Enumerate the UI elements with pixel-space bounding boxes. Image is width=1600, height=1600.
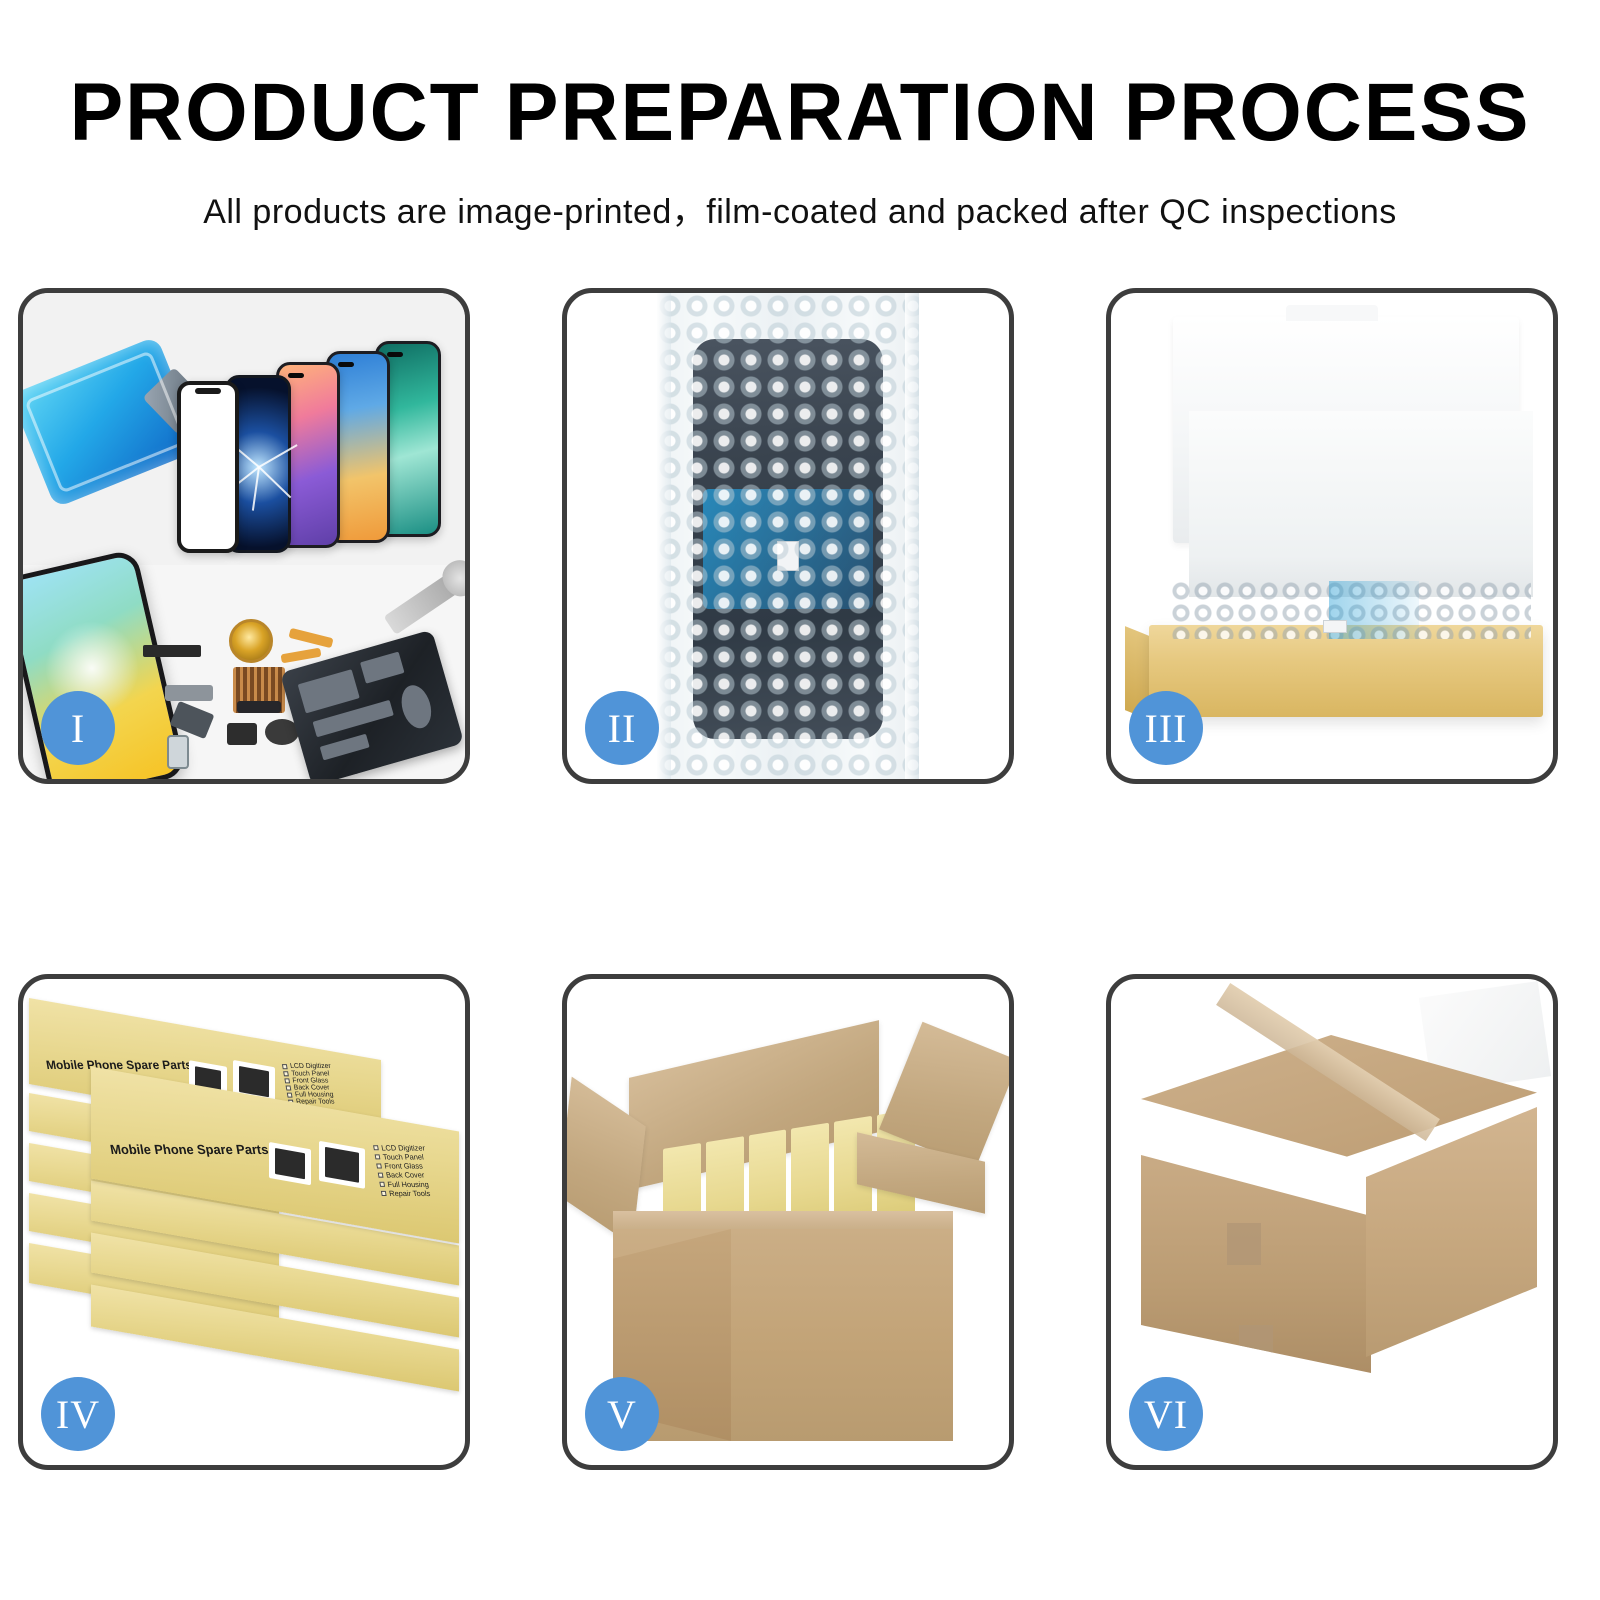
punch-hole-icon — [288, 373, 304, 378]
product-photo — [319, 1141, 365, 1189]
page-subtitle: All products are image-printed，film-coat… — [0, 184, 1600, 233]
crack-line — [258, 467, 291, 499]
step-badge-6: VI — [1129, 1377, 1203, 1451]
checklist-item: Front Glass — [292, 1077, 329, 1084]
flex-cable-graphic — [288, 628, 333, 648]
checklist-item: Full Housing — [387, 1180, 430, 1189]
process-step-panel-4: Mobile Phone Spare Parts LCD Digitizer T… — [18, 974, 470, 1470]
checklist-item: LCD Digitizer — [290, 1063, 332, 1070]
process-step-panel-2: II — [562, 288, 1014, 784]
box-inner-liner — [1189, 411, 1533, 597]
retail-box-brand-text: Mobile Phone Spare Parts — [109, 1142, 270, 1157]
tape-tab — [1227, 1223, 1261, 1265]
process-step-panel-3: III — [1106, 288, 1558, 784]
checklist-item: Repair Tools — [388, 1189, 430, 1198]
bracket-graphic — [165, 685, 213, 701]
sim-tray-graphic — [167, 735, 189, 769]
retail-box-brand-text: Mobile Phone Spare Parts — [45, 1058, 193, 1072]
step-badge-2: II — [585, 691, 659, 765]
checklist-item: Touch Panel — [382, 1152, 424, 1161]
page-header: PRODUCT PREPARATION PROCESS All products… — [0, 0, 1600, 233]
wireless-charging-coil-graphic — [229, 619, 273, 663]
retail-box-stack: Mobile Phone Spare Parts LCD Digitizer T… — [29, 1007, 465, 1437]
connector-graphic — [170, 701, 215, 739]
bubble-texture — [657, 293, 919, 779]
process-step-panel-5: V — [562, 974, 1014, 1470]
checklist-item: Back Cover — [293, 1084, 330, 1091]
earpiece-speaker-graphic — [143, 645, 201, 657]
step-badge-1: I — [41, 691, 115, 765]
checklist-item: Front Glass — [384, 1161, 424, 1170]
punch-hole-icon — [338, 362, 354, 367]
step-badge-3: III — [1129, 691, 1203, 765]
retail-box-checklist: LCD Digitizer Touch Panel Front Glass Ba… — [373, 1143, 434, 1198]
checklist-item: LCD Digitizer — [381, 1143, 426, 1152]
punch-hole-icon — [387, 352, 403, 357]
retail-box-checklist: LCD Digitizer Touch Panel Front Glass Ba… — [282, 1063, 338, 1106]
crack-line — [252, 467, 260, 511]
step-badge-5: V — [585, 1377, 659, 1451]
page-title: PRODUCT PREPARATION PROCESS — [16, 72, 1584, 154]
wrap-seal-left — [657, 293, 671, 779]
carton-right-face — [1366, 1107, 1537, 1357]
flex-cable-graphic — [281, 648, 322, 664]
item-label-sticker — [1323, 620, 1347, 633]
bubble-wrap-sheet — [657, 293, 919, 779]
checklist-item: Full Housing — [294, 1092, 334, 1099]
process-step-grid: I II III — [18, 288, 1582, 1568]
bubble-wrapped-item-in-box — [1171, 581, 1531, 639]
camera-module-graphic — [227, 723, 257, 745]
step-badge-4: IV — [41, 1377, 115, 1451]
wrap-seal-right — [905, 293, 919, 779]
tape-tab — [1239, 1325, 1273, 1367]
front-glass-panel — [177, 381, 239, 553]
lid-tab — [1286, 305, 1378, 321]
carton-left-face — [1141, 1155, 1371, 1373]
process-step-panel-6: VI — [1106, 974, 1558, 1470]
checklist-item: Back Cover — [385, 1171, 425, 1180]
screen-fan-group — [173, 345, 465, 595]
product-photo — [269, 1142, 311, 1185]
checklist-item: Touch Panel — [291, 1070, 330, 1077]
process-step-panel-1: I — [18, 288, 470, 784]
antenna-strip-graphic — [237, 701, 281, 713]
